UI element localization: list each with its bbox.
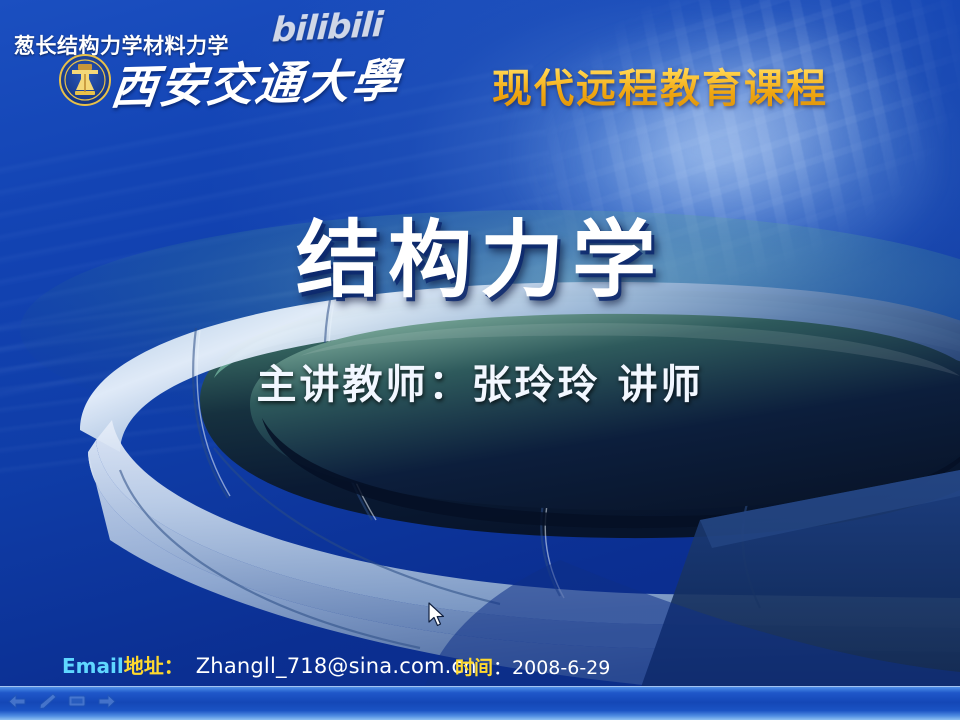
time-value: ：2008-6-29: [493, 657, 610, 679]
footer-time: 时间：2008-6-29: [455, 653, 610, 680]
screen-menu-icon[interactable]: [66, 692, 88, 710]
pen-annotate-icon[interactable]: [36, 692, 58, 710]
email-label-en: Email: [62, 654, 124, 678]
program-banner: 现代远程教育课程: [492, 56, 828, 114]
email-label-cn: 地址：: [124, 654, 184, 678]
next-slide-icon[interactable]: [96, 692, 118, 710]
slideshow-toolbar[interactable]: [0, 686, 960, 720]
email-label: Email地址：: [62, 650, 184, 679]
bilibili-watermark: bilibili: [271, 5, 384, 51]
footer-email: Email地址： Zhangll_718@sina.com.cn: [62, 650, 477, 679]
slide-canvas: 葱长结构力学材料力学 bilibili 西安交通大學 现代远程教育课程 结构力学: [0, 0, 960, 720]
mouse-cursor: [428, 602, 446, 628]
xjtu-seal-icon: [56, 52, 114, 108]
slideshow-toolbar-icons: [6, 692, 118, 710]
time-label: 时间: [455, 657, 493, 679]
page-title: 结构力学: [0, 193, 960, 314]
university-name: 西安交通大學: [108, 44, 405, 118]
email-value: Zhangll_718@sina.com.cn: [196, 654, 477, 678]
instructor-line: 主讲教师：张玲玲 讲师: [0, 352, 960, 410]
previous-slide-icon[interactable]: [6, 692, 28, 710]
